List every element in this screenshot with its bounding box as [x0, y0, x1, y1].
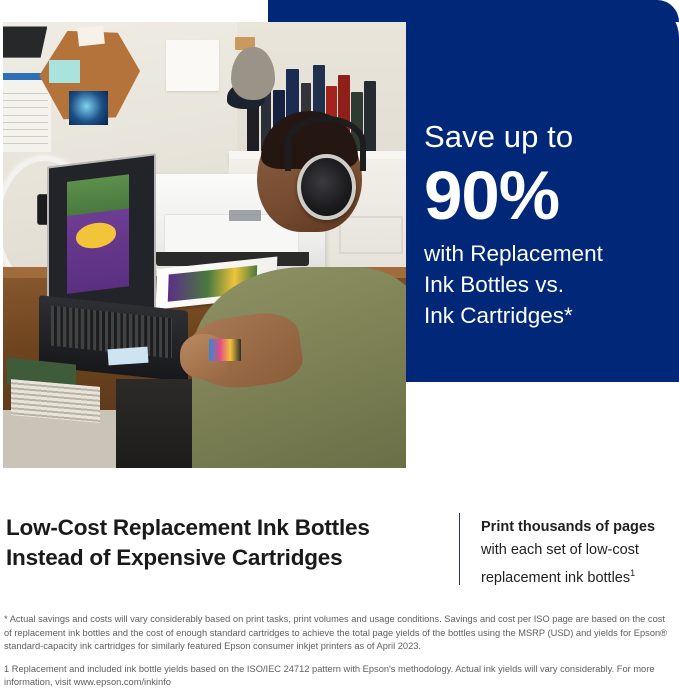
- corkboard-sticky-note: [49, 60, 79, 83]
- hero-eyebrow: Save up to: [424, 118, 669, 156]
- secondary-line-3: replacement ink bottles1: [481, 562, 676, 590]
- corkboard-photo-card: [69, 91, 107, 124]
- wall-paper-sheet: [166, 40, 218, 91]
- value-prop-heading: Low-Cost Replacement Ink Bottles Instead…: [6, 513, 446, 573]
- footnote-asterisk: * Actual savings and costs will vary con…: [4, 613, 674, 654]
- vertical-divider: [459, 513, 460, 585]
- ink-bottles: [209, 339, 241, 361]
- corkboard-note-paper: [77, 26, 105, 46]
- hero-subhead-line3: Ink Cartridges*: [424, 300, 669, 331]
- heading-line-2: Instead of Expensive Cartridges: [6, 543, 446, 573]
- value-prop-secondary: Print thousands of pages with each set o…: [481, 516, 676, 590]
- hero-copy: Save up to 90% with Replacement Ink Bott…: [424, 118, 669, 331]
- secondary-line-3-text: replacement ink bottles: [481, 570, 630, 586]
- wall-schedule-poster: [3, 73, 51, 151]
- desk-paper: [107, 346, 148, 364]
- hero-banner: Save up to 90% with Replacement Ink Bott…: [0, 0, 679, 470]
- value-props-section: Low-Cost Replacement Ink Bottles Instead…: [0, 505, 679, 595]
- legal-footnotes: * Actual savings and costs will vary con…: [4, 613, 674, 699]
- epson-logo: [229, 210, 261, 221]
- hero-photo: [3, 22, 406, 468]
- wall-dark-panel: [3, 26, 47, 57]
- heading-line-1: Low-Cost Replacement Ink Bottles: [6, 513, 446, 543]
- headphone-earcup: [297, 154, 355, 220]
- desk-book-stack: [11, 379, 100, 422]
- footnote-one: 1 Replacement and included ink bottle yi…: [4, 663, 674, 690]
- footnote-marker-1: 1: [630, 568, 635, 578]
- cabinet-panel: [339, 216, 403, 253]
- secondary-lead: Print thousands of pages: [481, 516, 676, 539]
- hero-subhead-line1: with Replacement: [424, 238, 669, 269]
- hero-percent: 90%: [424, 160, 669, 232]
- hero-subhead-line2: Ink Bottles vs.: [424, 269, 669, 300]
- secondary-line-2: with each set of low-cost: [481, 539, 676, 562]
- photo-scene: [3, 22, 406, 468]
